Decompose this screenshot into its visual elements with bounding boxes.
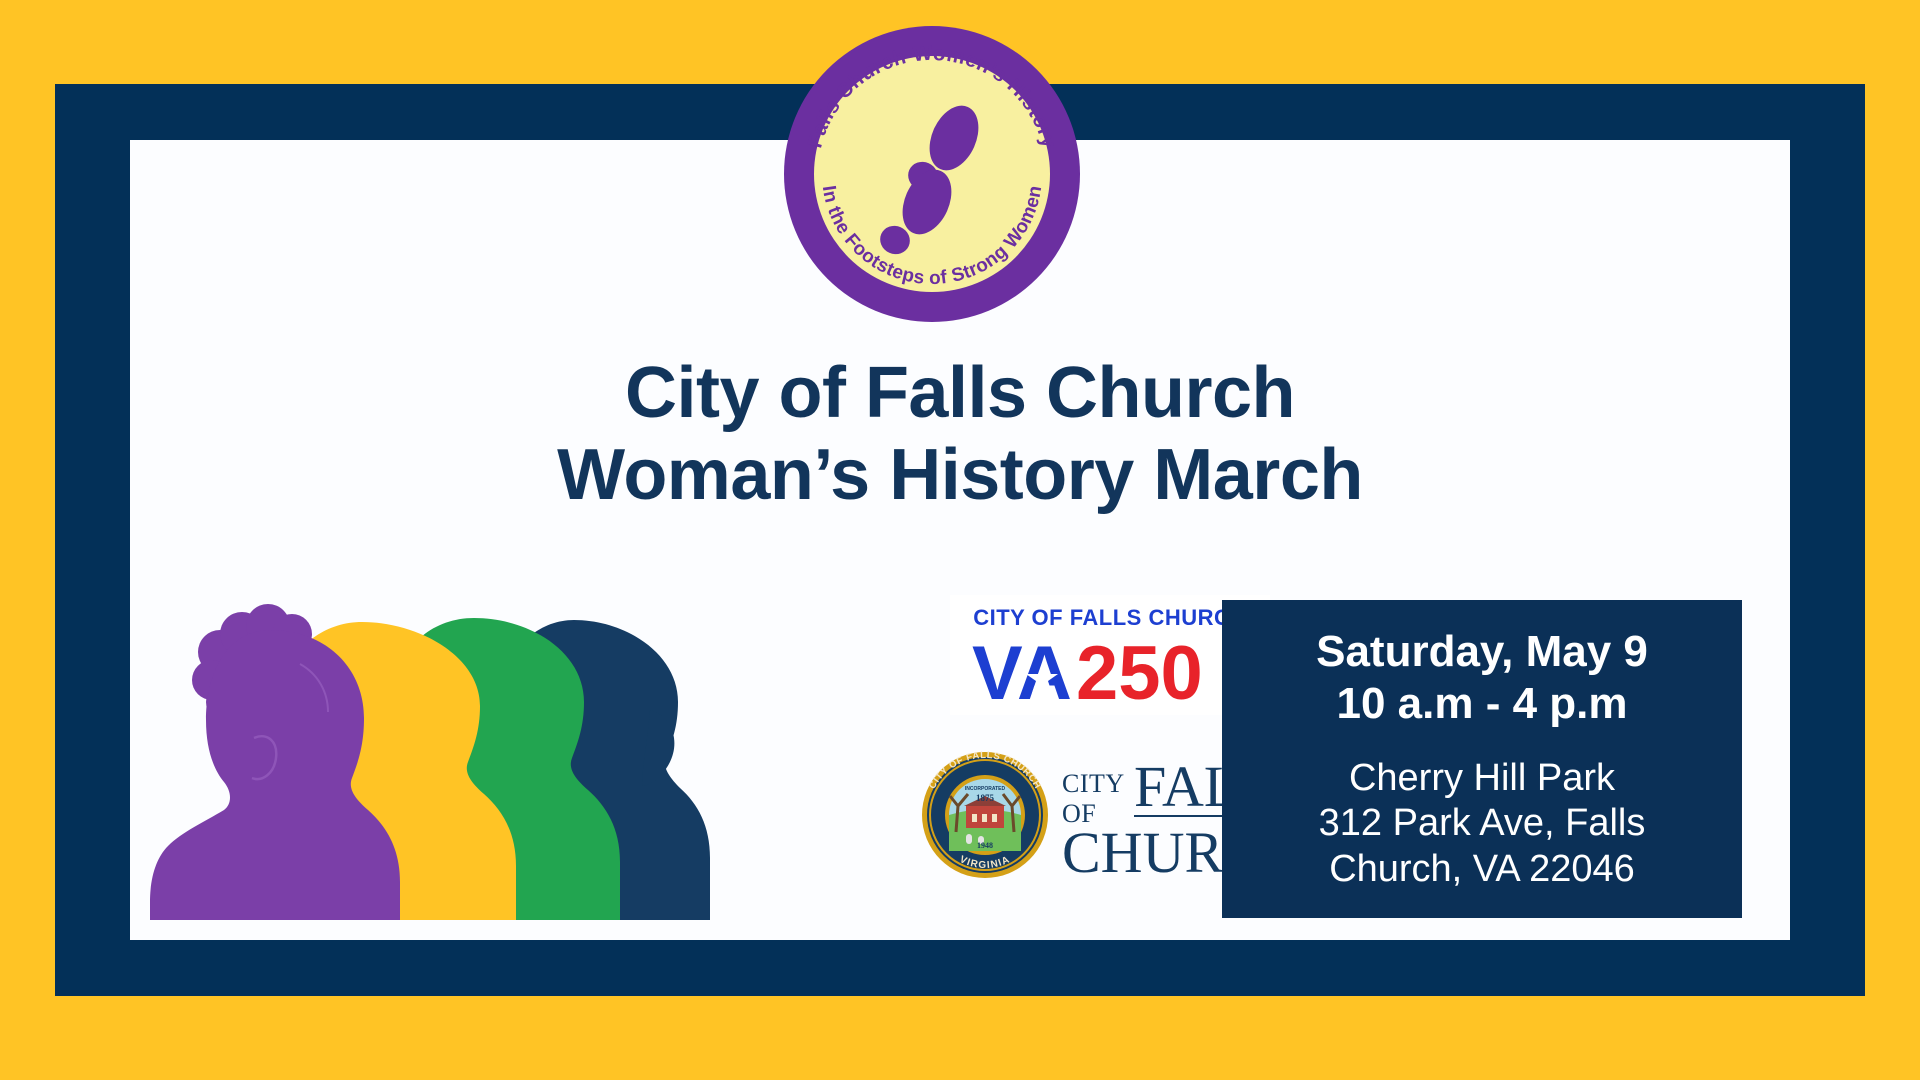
content-row: CITY OF FALLS CHURCH VA 250 <box>130 590 1790 930</box>
event-address-line2: Church, VA 22046 <box>1222 847 1742 893</box>
title-line-2: Woman’s History March <box>130 434 1790 516</box>
falls-church-womens-history-badge: Falls Church Women’s History In the Foot… <box>782 24 1082 324</box>
event-address-line1: 312 Park Ave, Falls <box>1222 801 1742 847</box>
women-silhouettes-illustration <box>150 590 770 930</box>
seal-incorporated-year: 1875 <box>976 793 995 803</box>
page-title: City of Falls Church Woman’s History Mar… <box>130 352 1790 516</box>
seal-charter-year: 1948 <box>977 841 993 850</box>
seal-incorporated-label: INCORPORATED <box>965 786 1006 792</box>
event-time: 10 a.m - 4 p.m <box>1222 678 1742 730</box>
event-date: Saturday, May 9 <box>1222 626 1742 678</box>
partner-logos-column: CITY OF FALLS CHURCH VA 250 <box>790 590 1240 930</box>
va250-top-text: CITY OF FALLS CHURCH <box>973 605 1247 630</box>
va250-number-text: 250 <box>1076 631 1203 715</box>
city-seal-icon: INCORPORATED 1875 1948 CITY OF FALLS CHU… <box>922 750 1048 878</box>
event-details-box: Saturday, May 9 10 a.m - 4 p.m Cherry Hi… <box>1222 600 1742 918</box>
title-line-1: City of Falls Church <box>130 352 1790 434</box>
va250-va-text: VA <box>972 631 1072 715</box>
poster-root: Falls Church Women’s History In the Foot… <box>0 0 1920 1080</box>
event-where: Cherry Hill Park 312 Park Ave, Falls Chu… <box>1222 756 1742 893</box>
wordmark-city: CITY <box>1062 769 1125 798</box>
event-when: Saturday, May 9 10 a.m - 4 p.m <box>1222 626 1742 730</box>
event-venue: Cherry Hill Park <box>1222 756 1742 802</box>
